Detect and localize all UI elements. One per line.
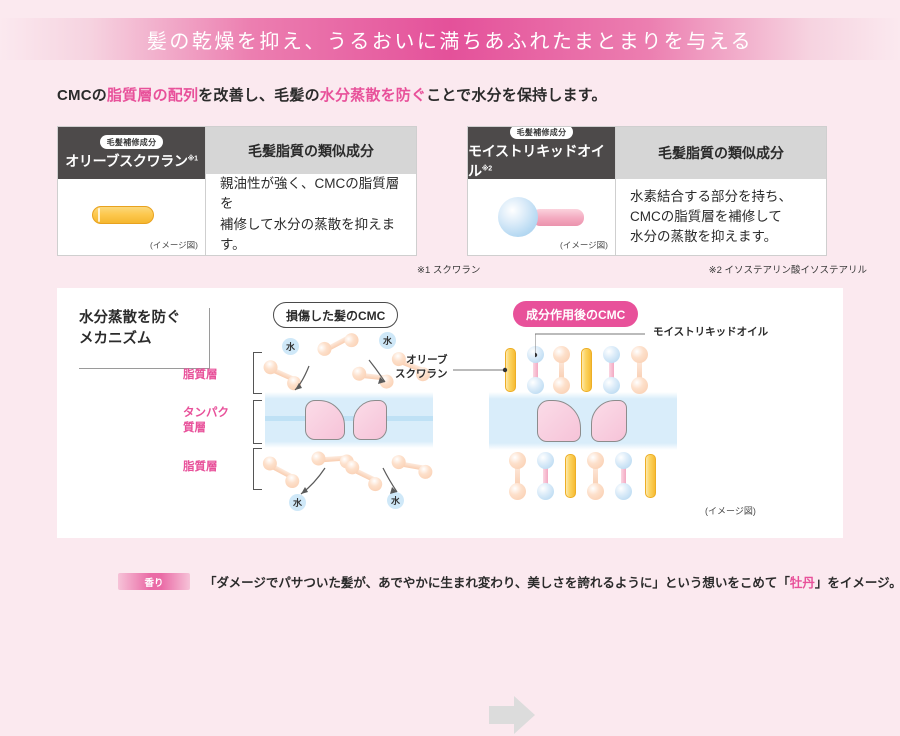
image-note: (イメージ図) [560,239,608,251]
desc-line-3: 水分の蒸散を抑えます。 [630,227,812,247]
desc-line-1: 親油性が強く、CMCの脂質層を [220,174,402,215]
card-header-grey: 毛髪脂質の類似成分 [616,127,826,179]
repair-ingredient-badge: 毛髪補修成分 [510,126,574,139]
intro-highlight-2: 水分蒸散を防ぐ [320,87,426,104]
footnote-marker: ※1 [188,155,198,162]
card-2-footnote: ※2 イソステアリン酸イソステアリル [709,262,867,276]
ingredient-card-moist-liquid-oil: 毛髪補修成分 モイストリキッドオイル※2 (イメージ図) 毛髪脂質の類似成分 水… [467,126,827,256]
callout-moist-liquid-oil: モイストリキッドオイル [653,326,768,340]
layer-label-lipid-bottom: 脂質層 [183,460,243,475]
layer-label-lipid-top: 脂質層 [183,368,243,383]
transition-arrow-icon [489,694,535,736]
page-banner: 髪の乾燥を抑え、うるおいに満ちあふれたまとまりを与える [0,18,900,60]
card-1-footnote: ※1 スクワラン [417,262,480,276]
footnote-marker: ※2 [482,165,492,172]
desc-line-1: 水素結合する部分を持ち、 [630,187,812,207]
card-description-column: 毛髪脂質の類似成分 水素結合する部分を持ち、 CMCの脂質層を補修して 水分の蒸… [616,127,826,255]
mechanism-title: 水分蒸散を防ぐ メカニズム [79,308,210,369]
callout-left-leader-line [453,360,513,380]
rod-shape [532,209,584,226]
bracket-lipid-top [253,352,262,394]
footer-text-part-1: 「ダメージでパサついた髪が、あでやかに生まれ変わり、美しさを誇れるように」という… [204,576,790,590]
layer-label-protein-line-1: タンパク [183,406,243,421]
ingredient-card-olive-squalane: 毛髪補修成分 オリーブスクワラン※1 (イメージ図) 毛髪脂質の類似成分 親油性… [57,126,417,256]
mechanism-title-line-1: 水分蒸散を防ぐ [79,308,181,329]
sphere-shape [498,197,538,237]
protein-band-right [489,392,677,450]
mechanism-title-line-2: メカニズム [79,329,181,350]
card-description: 親油性が強く、CMCの脂質層を 補修して水分の蒸散を抑えます。 [206,174,416,255]
desc-line-2: 補修して水分の蒸散を抑えます。 [220,215,402,256]
bracket-protein [253,400,262,444]
moist-liquid-oil-icon [498,197,590,237]
card-description: 水素結合する部分を持ち、 CMCの脂質層を補修して 水分の蒸散を抑えます。 [616,179,826,255]
callout-right-leader-line [535,332,645,388]
callout-left-line-2: スクワラン [395,368,448,382]
oil-capsule-icon [92,206,154,224]
footer-text: 「ダメージでパサついた髪が、あでやかに生まれ変わり、美しさを誇れるように」という… [204,572,900,591]
ingredient-name: オリーブスクワラン [65,153,187,169]
layer-label-protein-line-2: 質層 [183,421,243,436]
card-header-dark: 毛髪補修成分 モイストリキッドオイル※2 [468,127,615,179]
banner-title: 髪の乾燥を抑え、うるおいに満ちあふれたまとまりを与える [147,25,753,54]
figure-area: (イメージ図) [58,179,205,255]
intro-part-3: ことで水分を保持します。 [426,87,606,104]
olive-squalane-rod [645,454,656,498]
card-description-column: 毛髪脂質の類似成分 親油性が強く、CMCの脂質層を 補修して水分の蒸散を抑えます… [206,127,416,255]
footer-text-part-2: 」をイメージ。 [815,576,900,590]
repair-ingredient-badge: 毛髪補修成分 [100,135,164,149]
card-figure-column: 毛髪補修成分 モイストリキッドオイル※2 (イメージ図) [468,127,616,255]
card-header-grey: 毛髪脂質の類似成分 [206,127,416,174]
mechanism-image-note: (イメージ図) [705,504,756,517]
intro-part-2: を改善し、毛髪の [198,87,320,104]
figure-area: (イメージ図) [468,179,615,255]
card-header-dark: 毛髪補修成分 オリーブスクワラン※1 [58,127,205,179]
footer: 香り 「ダメージでパサついた髪が、あでやかに生まれ変わり、美しさを誇れるように」… [118,572,900,591]
callout-olive-squalane: オリーブ スクワラン [395,354,448,381]
bracket-lipid-bottom [253,448,262,490]
footer-highlight: 牡丹 [790,576,815,590]
layer-label-protein: タンパク 質層 [183,406,243,436]
fragrance-badge: 香り [118,573,190,590]
callout-left-line-1: オリーブ [395,354,448,368]
ingredient-name: モイストリキッドオイル [468,143,605,179]
image-note: (イメージ図) [150,239,198,251]
mechanism-panel: 水分蒸散を防ぐ メカニズム 脂質層 タンパク 質層 脂質層 損傷した髪のCMC [57,288,843,538]
diagram-left-heading: 損傷した髪のCMC [273,302,398,328]
card-figure-column: 毛髪補修成分 オリーブスクワラン※1 (イメージ図) [58,127,206,255]
diagram-right-heading: 成分作用後のCMC [513,301,638,327]
intro-part-1: CMCの [57,87,107,104]
olive-squalane-rod [565,454,576,498]
intro-text: CMCの脂質層の配列を改善し、毛髪の水分蒸散を防ぐことで水分を保持します。 [57,84,607,105]
desc-line-2: CMCの脂質層を補修して [630,207,812,227]
intro-highlight-1: 脂質層の配列 [107,87,198,104]
